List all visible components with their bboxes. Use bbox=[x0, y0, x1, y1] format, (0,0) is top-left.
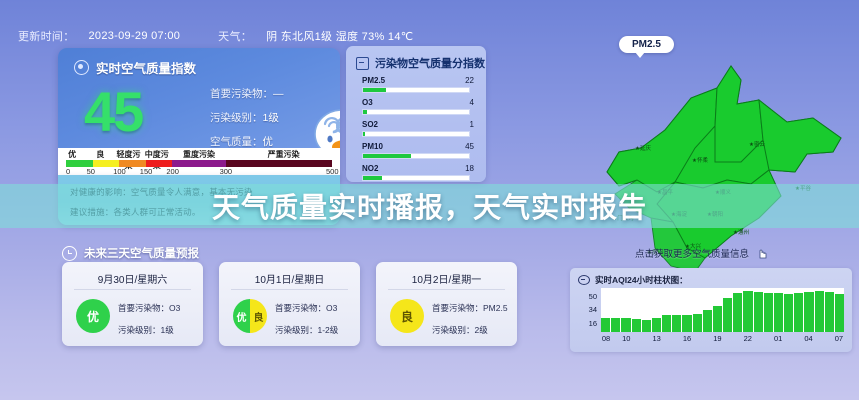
forecast-quality-badge: 优 bbox=[76, 299, 110, 333]
chart-x-tick: 07 bbox=[835, 334, 843, 343]
forecast-quality-badge: 良 bbox=[390, 299, 424, 333]
chart-x-tick: 22 bbox=[744, 334, 752, 343]
air-quality-value: 优 bbox=[263, 136, 274, 148]
primary-pollutant-value: — bbox=[273, 88, 284, 100]
chart-bar bbox=[774, 293, 783, 332]
pollutant-bar-track bbox=[362, 175, 470, 181]
chart-bar bbox=[611, 318, 620, 332]
forecast-level: 污染级别：2级 bbox=[432, 324, 508, 336]
chart-bar bbox=[682, 315, 691, 332]
forecast-date: 10月1日/星期日 bbox=[219, 271, 360, 286]
chart-x-tick: 19 bbox=[713, 334, 721, 343]
chart-y-axis: 503416 bbox=[575, 284, 597, 332]
pollution-level-row: 污染级别：1级 bbox=[210, 110, 284, 125]
list-box-icon bbox=[356, 57, 369, 70]
forecast-card[interactable]: 10月2日/星期一良首要污染物：PM2.5污染级别：2级 bbox=[376, 262, 517, 346]
pollutant-bar-fill bbox=[363, 154, 411, 158]
target-ring-icon bbox=[74, 60, 89, 75]
pollutant-bar-track bbox=[362, 109, 470, 115]
forecast-divider bbox=[231, 289, 348, 290]
chart-bar bbox=[835, 294, 844, 332]
forecast-divider bbox=[388, 289, 505, 290]
pollutant-bar-fill bbox=[363, 132, 365, 136]
chart-bar bbox=[764, 293, 773, 332]
realtime-aqi-title: 实时空气质量指数 bbox=[74, 58, 196, 77]
aqi-value: 45 bbox=[84, 84, 142, 140]
svg-text:★延庆: ★延庆 bbox=[635, 144, 651, 152]
pollutant-bar-track bbox=[362, 87, 470, 93]
pollutant-value: 18 bbox=[465, 164, 474, 173]
forecast-meta: 首要污染物：O3污染级别：1-2级 bbox=[275, 302, 338, 336]
forecast-quality-badge: 优良 bbox=[233, 299, 267, 333]
hand-cursor-icon bbox=[757, 247, 768, 260]
aqi-scale-label: 严重污染 bbox=[227, 149, 340, 160]
air-quality-row: 空气质量：优 bbox=[210, 134, 284, 149]
forecast-level: 污染级别：1-2级 bbox=[275, 324, 338, 336]
pollutant-panel-title: 污染物空气质量分指数 bbox=[356, 55, 485, 71]
forecast-card[interactable]: 10月1日/星期日优良首要污染物：O3污染级别：1-2级 bbox=[219, 262, 360, 346]
aqi-scale-segment bbox=[119, 160, 146, 167]
pollutant-row: NO218 bbox=[362, 164, 474, 182]
pollutant-name: SO2 bbox=[362, 120, 378, 129]
map-graphic[interactable]: ★延庆 ★怀柔 ★密云 ★昌平 ★顺义 ★平谷 ★门头沟 ★海淀 ★朝阳 ★通州… bbox=[545, 22, 859, 274]
forecast-meta: 首要污染物：PM2.5污染级别：2级 bbox=[432, 302, 508, 336]
forecast-card-list: 9月30日/星期六优首要污染物：O3污染级别：1级10月1日/星期日优良首要污染… bbox=[62, 262, 517, 346]
pollutant-value: 1 bbox=[470, 120, 474, 129]
forecast-level: 污染级别：1级 bbox=[118, 324, 180, 336]
forecast-title: 未来三天空气质量预报 bbox=[62, 245, 199, 261]
pollutant-bar-fill bbox=[363, 110, 367, 114]
forecast-card[interactable]: 9月30日/星期六优首要污染物：O3污染级别：1级 bbox=[62, 262, 203, 346]
primary-pollutant-row: 首要污染物：— bbox=[210, 86, 284, 101]
chart-bar bbox=[632, 319, 641, 332]
chart-y-tick: 16 bbox=[589, 319, 597, 328]
chart-bar bbox=[642, 320, 651, 332]
pollutant-row: PM1045 bbox=[362, 142, 474, 164]
chart-x-tick: 01 bbox=[774, 334, 782, 343]
pollutant-bar-fill bbox=[363, 176, 382, 180]
pollutant-name: PM2.5 bbox=[362, 76, 385, 85]
chart-x-tick: 13 bbox=[653, 334, 661, 343]
pollutant-name: NO2 bbox=[362, 164, 378, 173]
chart-bar bbox=[713, 306, 722, 332]
aqi-scale: 优良轻度污染中度污染重度污染严重污染 050100150200300500 bbox=[58, 148, 340, 175]
pollutant-bar-track bbox=[362, 131, 470, 137]
beijing-air-quality-map[interactable]: ★延庆 ★怀柔 ★密云 ★昌平 ★顺义 ★平谷 ★门头沟 ★海淀 ★朝阳 ★通州… bbox=[545, 22, 859, 274]
chart-x-axis: 081013161922010407 bbox=[601, 334, 844, 346]
chart-bar bbox=[703, 310, 712, 332]
aqi-scale-segment bbox=[66, 160, 93, 167]
pollutant-index-panel[interactable]: 污染物空气质量分指数 PM2.522O34SO21PM1045NO218 bbox=[346, 46, 486, 182]
pollutant-value: 4 bbox=[470, 98, 474, 107]
aqi-scale-segment bbox=[172, 160, 225, 167]
chart-x-tick: 08 bbox=[602, 334, 610, 343]
chart-bar bbox=[784, 294, 793, 332]
chart-bar bbox=[794, 293, 803, 332]
clock-icon bbox=[62, 246, 77, 261]
weather-value: 阴 东北风1级 湿度 73% 14℃ bbox=[266, 28, 413, 44]
chart-bar bbox=[621, 318, 630, 332]
page-root: 更新时间： 2023-09-29 07:00 天气： 阴 东北风1级 湿度 73… bbox=[0, 0, 859, 400]
forecast-date: 9月30日/星期六 bbox=[62, 271, 203, 286]
pollutant-panel-title-text: 污染物空气质量分指数 bbox=[375, 55, 485, 71]
pollution-level-label: 污染级别： bbox=[210, 112, 263, 124]
chart-bar bbox=[733, 293, 742, 332]
forecast-date: 10月2日/星期一 bbox=[376, 271, 517, 286]
pollutant-rows: PM2.522O34SO21PM1045NO218 bbox=[362, 76, 474, 182]
chart-title-text: 实时AQI24小时柱状图： bbox=[595, 274, 688, 286]
aqi-scale-segment bbox=[146, 160, 173, 167]
chart-bar bbox=[754, 292, 763, 332]
chart-bar bbox=[693, 314, 702, 332]
chart-bar bbox=[815, 291, 824, 332]
aqi-scale-label: 良 bbox=[86, 149, 114, 160]
pollution-level-value: 1级 bbox=[263, 112, 279, 124]
update-time-label: 更新时间： bbox=[18, 28, 75, 44]
map-click-hint[interactable]: 点击获取更多空气质量信息 bbox=[635, 246, 768, 260]
forecast-primary-pollutant: 首要污染物：PM2.5 bbox=[432, 302, 508, 314]
chart-bar bbox=[723, 298, 732, 332]
aqi-scale-label: 中度污染 bbox=[143, 149, 171, 160]
aqi-detail-lines: 首要污染物：— 污染级别：1级 空气质量：优 bbox=[210, 86, 284, 149]
chart-bar bbox=[652, 318, 661, 332]
svg-text:★密云: ★密云 bbox=[749, 140, 765, 148]
svg-text:★通州: ★通州 bbox=[733, 228, 749, 236]
aqi-scale-segment bbox=[93, 160, 120, 167]
map-pollutant-label[interactable]: PM2.5 bbox=[619, 36, 674, 53]
chart-x-tick: 16 bbox=[683, 334, 691, 343]
map-click-hint-text: 点击获取更多空气质量信息 bbox=[635, 246, 749, 260]
svg-text:★怀柔: ★怀柔 bbox=[692, 156, 708, 164]
forecast-primary-pollutant: 首要污染物：O3 bbox=[275, 302, 338, 314]
aqi-scale-label: 轻度污染 bbox=[114, 149, 142, 160]
overlay-title: 天气质量实时播报，天气实时报告 bbox=[0, 186, 859, 226]
realtime-aqi-title-text: 实时空气质量指数 bbox=[96, 58, 196, 77]
aqi-scale-bar bbox=[66, 160, 332, 167]
chart-plot-area bbox=[601, 288, 844, 332]
weather-label: 天气： bbox=[218, 28, 252, 44]
update-time-value: 2023-09-29 07:00 bbox=[89, 30, 181, 42]
chart-bar bbox=[672, 315, 681, 332]
pollutant-bar-fill bbox=[363, 88, 386, 92]
chart-bar bbox=[804, 292, 813, 332]
chart-y-tick: 34 bbox=[589, 305, 597, 314]
forecast-title-text: 未来三天空气质量预报 bbox=[84, 245, 199, 261]
chart-bar bbox=[601, 318, 610, 332]
chart-bar bbox=[825, 292, 834, 332]
air-quality-label: 空气质量： bbox=[210, 136, 263, 148]
aqi-scale-segment bbox=[226, 160, 332, 167]
chart-x-tick: 04 bbox=[804, 334, 812, 343]
pollutant-row: O34 bbox=[362, 98, 474, 120]
status-header: 更新时间： 2023-09-29 07:00 天气： 阴 东北风1级 湿度 73… bbox=[18, 28, 413, 44]
pollutant-value: 45 bbox=[465, 142, 474, 151]
pollutant-name: PM10 bbox=[362, 142, 383, 151]
aqi-scale-labels: 优良轻度污染中度污染重度污染严重污染 bbox=[58, 149, 340, 160]
pollutant-row: SO21 bbox=[362, 120, 474, 142]
chart-bar bbox=[662, 315, 671, 332]
forecast-meta: 首要污染物：O3污染级别：1级 bbox=[118, 302, 180, 336]
chart-bar bbox=[743, 291, 752, 332]
forecast-primary-pollutant: 首要污染物：O3 bbox=[118, 302, 180, 314]
primary-pollutant-label: 首要污染物： bbox=[210, 88, 273, 100]
aqi-scale-label: 优 bbox=[58, 149, 86, 160]
pollutant-value: 22 bbox=[465, 76, 474, 85]
chart-x-tick: 10 bbox=[622, 334, 630, 343]
aqi-24h-chart[interactable]: 实时AQI24小时柱状图： 503416 081013161922010407 bbox=[570, 268, 852, 352]
chart-y-tick: 50 bbox=[589, 292, 597, 301]
pollutant-name: O3 bbox=[362, 98, 373, 107]
pollutant-row: PM2.522 bbox=[362, 76, 474, 98]
pollutant-bar-track bbox=[362, 153, 470, 159]
aqi-scale-label: 重度污染 bbox=[171, 149, 227, 160]
forecast-divider bbox=[74, 289, 191, 290]
